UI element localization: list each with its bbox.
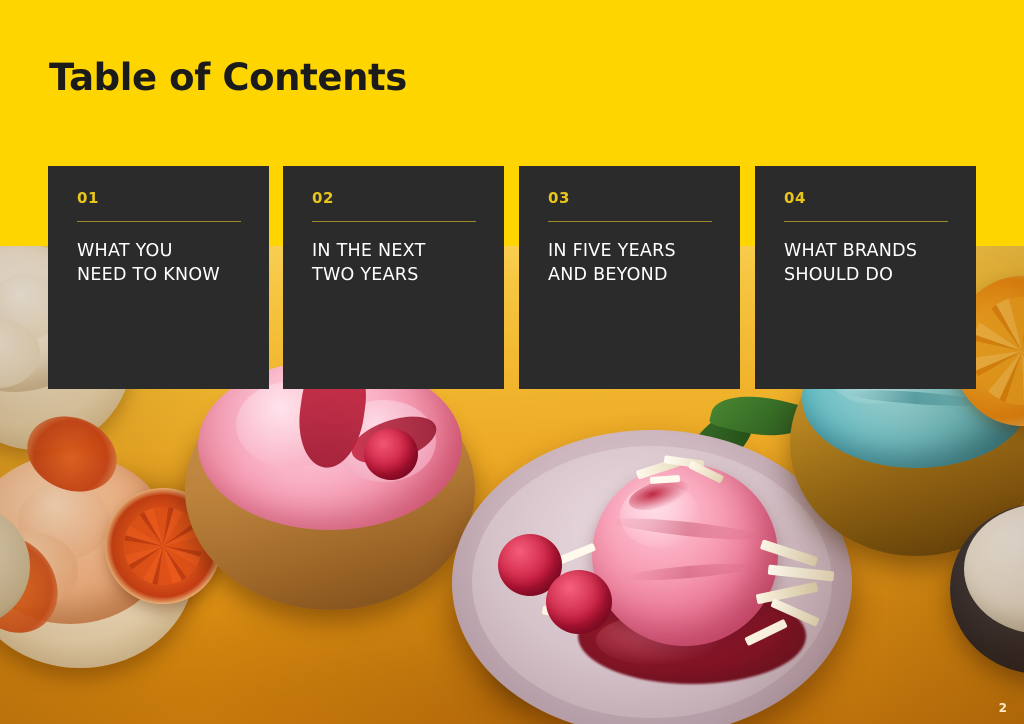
toc-card-02[interactable]: 02 IN THE NEXT TWO YEARS	[283, 166, 504, 389]
toc-card-03[interactable]: 03 IN FIVE YEARS AND BEYOND	[519, 166, 740, 389]
toc-card-number: 04	[784, 189, 806, 207]
divider	[784, 221, 948, 222]
divider	[312, 221, 476, 222]
toc-card-label: WHAT YOU NEED TO KNOW	[77, 240, 263, 288]
toc-card-number: 03	[548, 189, 570, 207]
raspberry	[364, 428, 418, 480]
divider	[548, 221, 712, 222]
toc-card-label: IN FIVE YEARS AND BEYOND	[548, 240, 734, 288]
page-number: 2	[999, 701, 1007, 715]
toc-card-number: 02	[312, 189, 334, 207]
toc-card-number: 01	[77, 189, 99, 207]
slide: Table of Contents 01 WHAT YOU NEED TO KN…	[0, 0, 1024, 724]
toc-card-01[interactable]: 01 WHAT YOU NEED TO KNOW	[48, 166, 269, 389]
toc-card-label: IN THE NEXT TWO YEARS	[312, 240, 498, 288]
divider	[77, 221, 241, 222]
toc-card-label: WHAT BRANDS SHOULD DO	[784, 240, 970, 288]
toc-card-04[interactable]: 04 WHAT BRANDS SHOULD DO	[755, 166, 976, 389]
page-title: Table of Contents	[49, 56, 407, 99]
